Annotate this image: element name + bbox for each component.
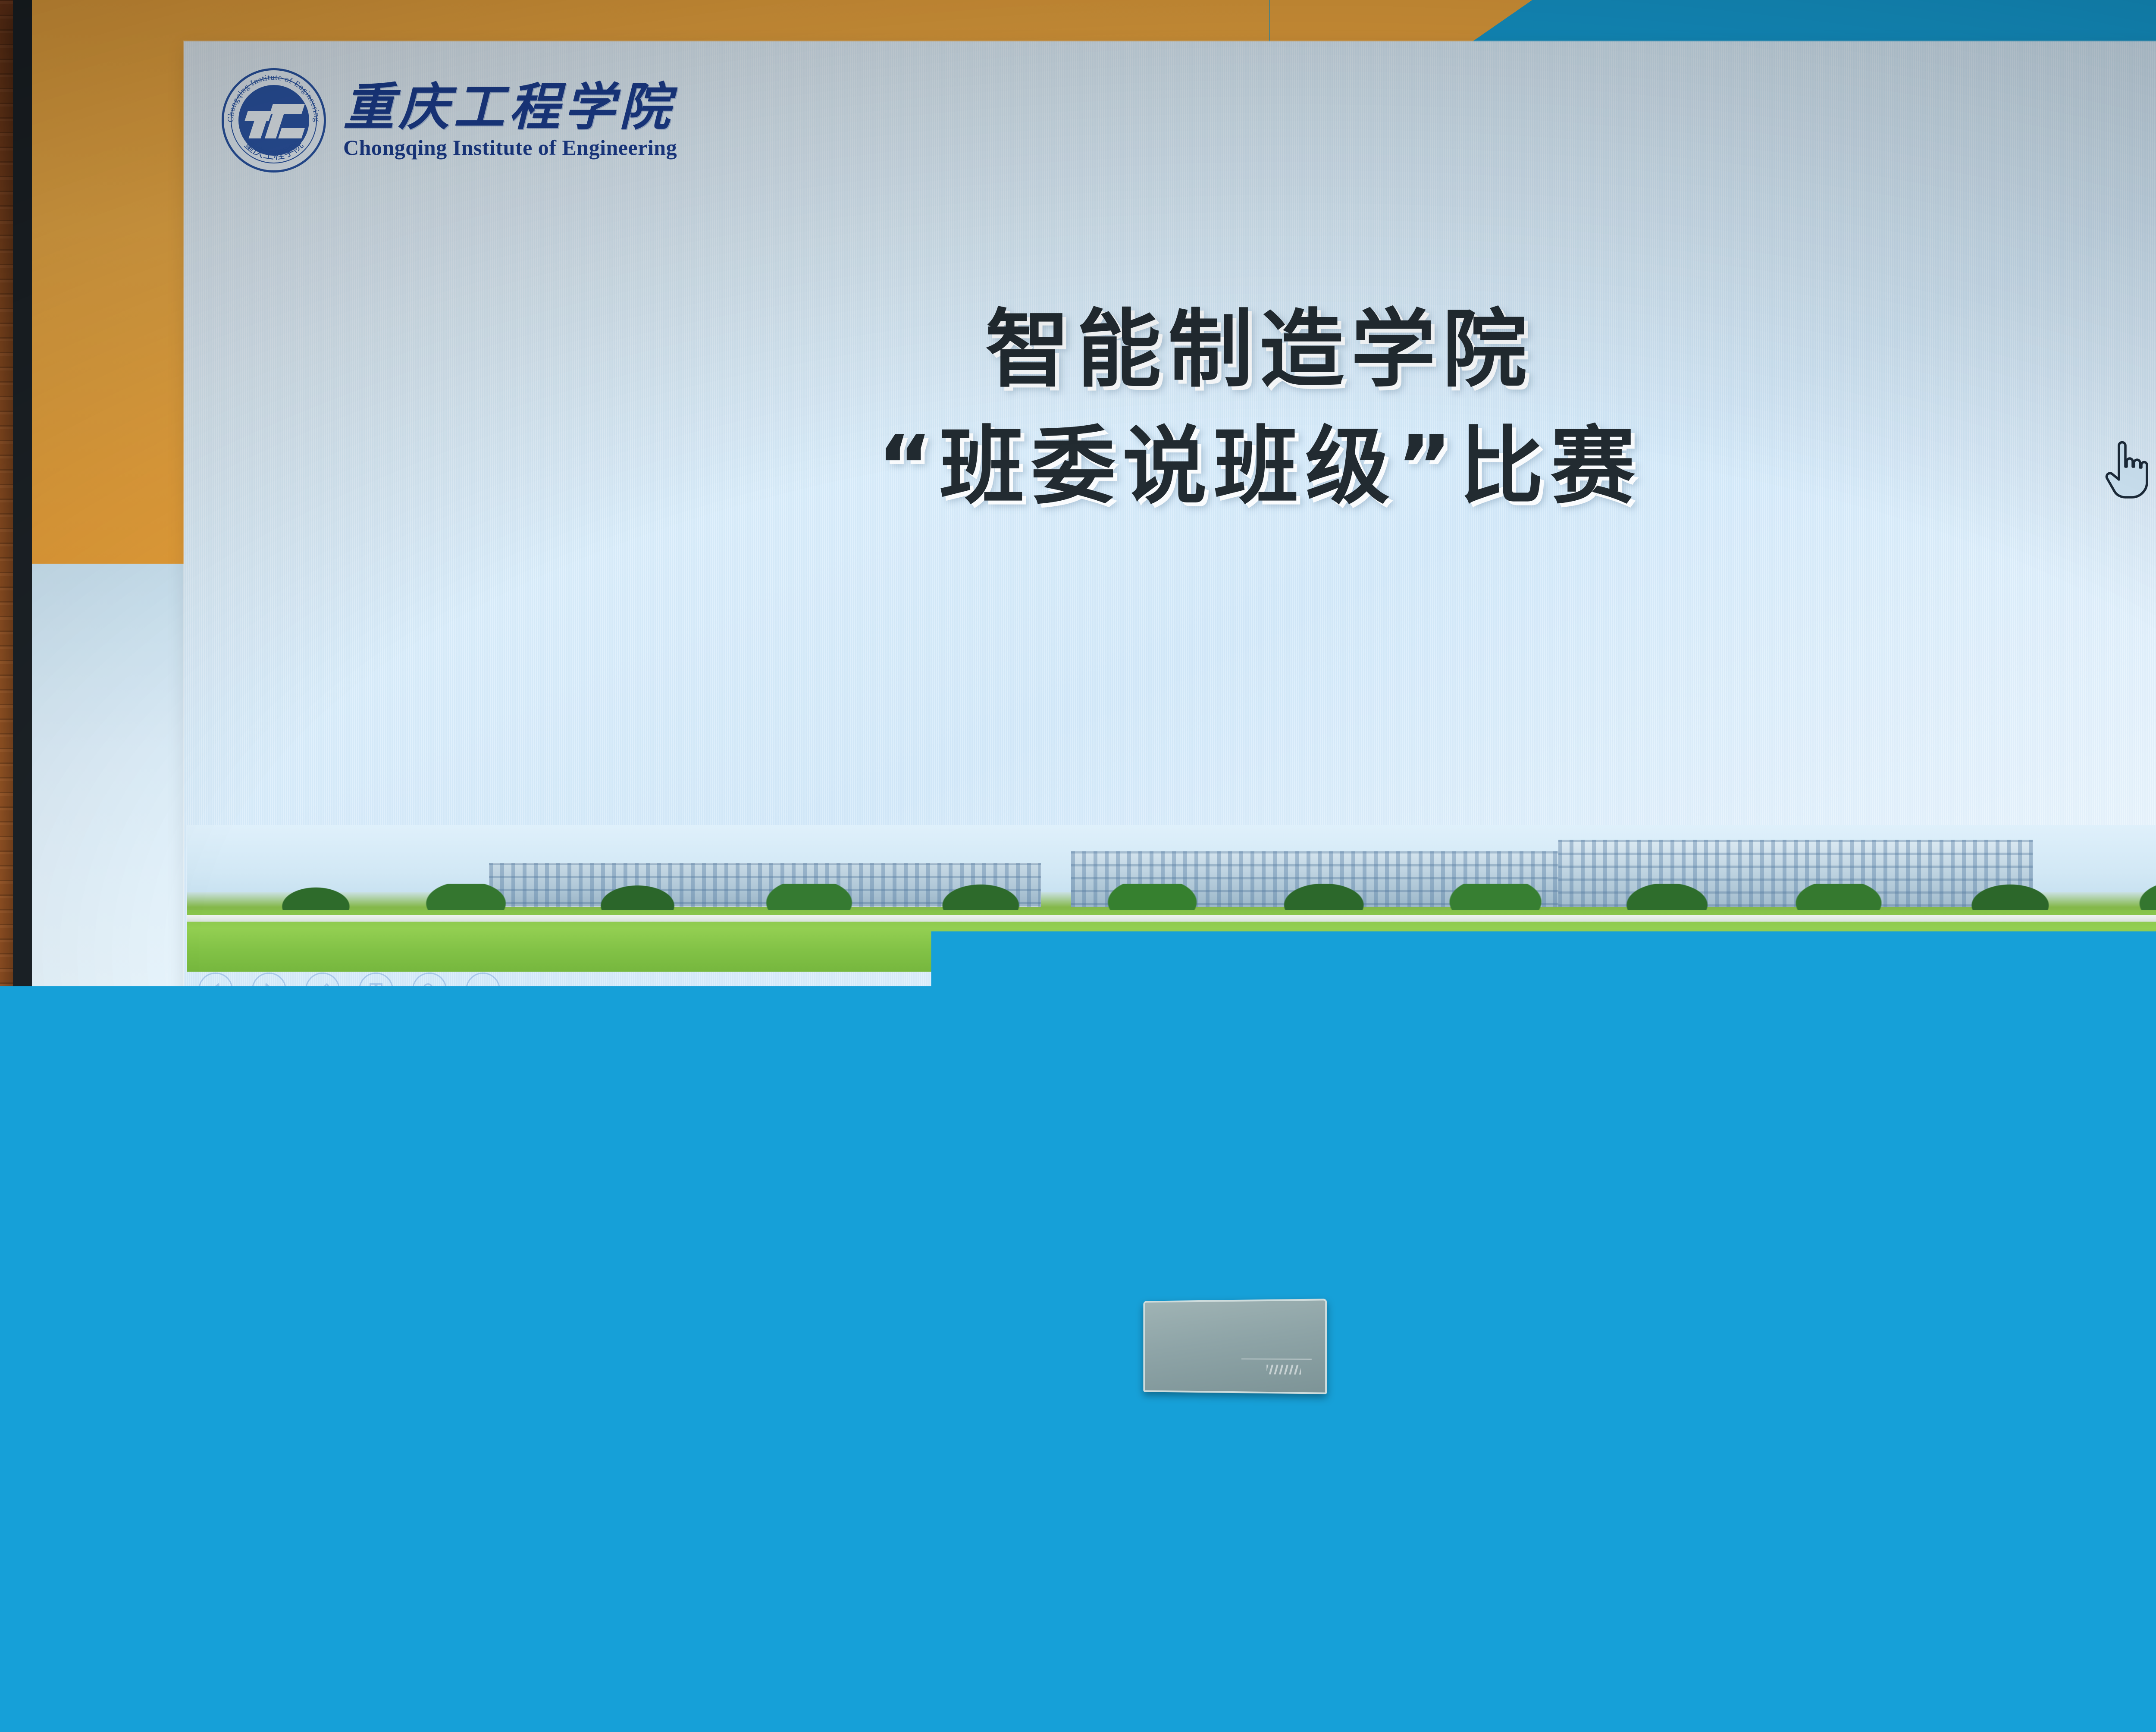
- scene-vignette: [0, 0, 2156, 1732]
- auditorium-scene: Chongqing Institute of Engineering 重庆工程学…: [0, 0, 2156, 1732]
- floor-shadow: [0, 1590, 2156, 1732]
